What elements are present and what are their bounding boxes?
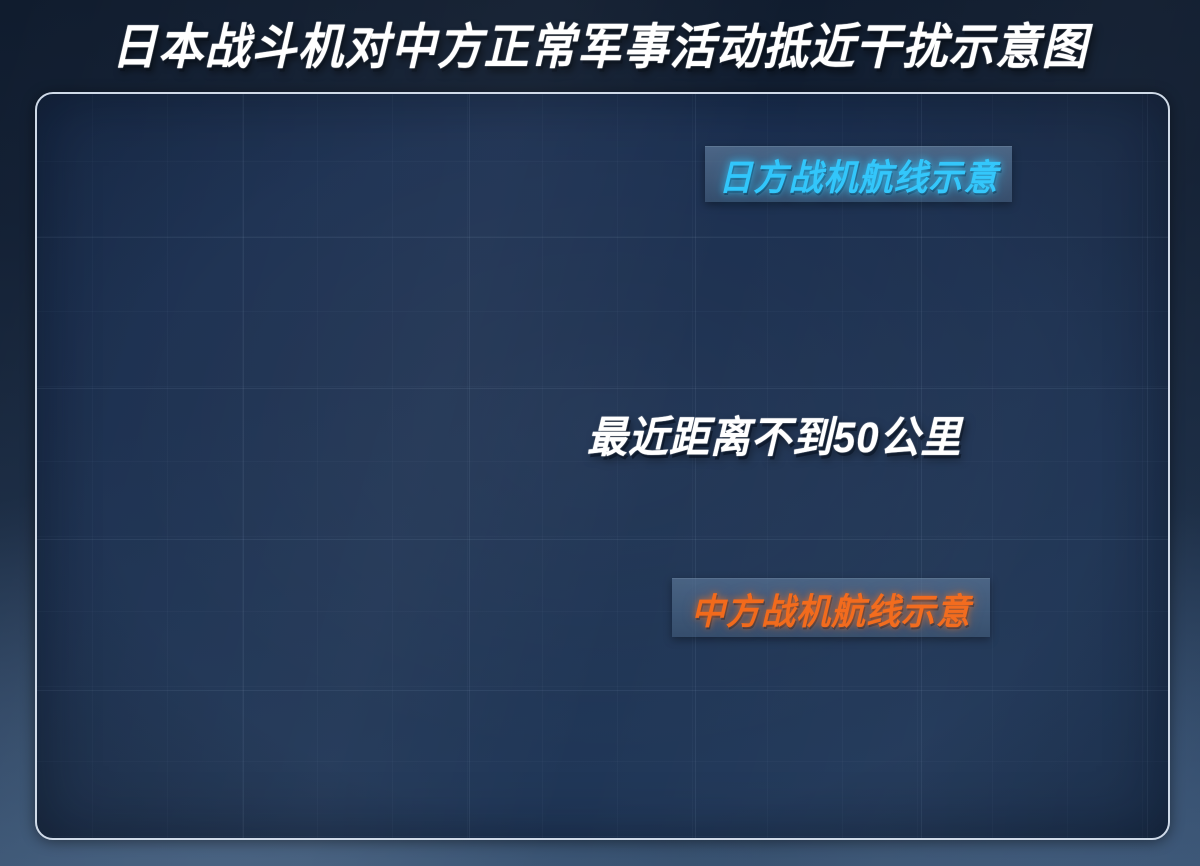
legend-chip-china[interactable]: 中方战机航线示意 xyxy=(672,578,990,637)
legend-label-china: 中方战机航线示意 xyxy=(691,582,971,634)
panel-vignette xyxy=(37,94,1168,838)
grid-major xyxy=(37,94,1168,838)
grid-minor xyxy=(37,94,1168,838)
legend-chip-japan[interactable]: 日方战机航线示意 xyxy=(705,146,1012,202)
legend-label-japan: 日方战机航线示意 xyxy=(719,149,999,201)
page-title: 日本战斗机对中方正常军事活动抵近干扰示意图 xyxy=(0,6,1200,78)
map-panel xyxy=(35,92,1170,840)
distance-annotation: 最近距离不到50公里 xyxy=(587,403,962,465)
page-title-text: 日本战斗机对中方正常军事活动抵近干扰示意图 xyxy=(112,7,1089,77)
infographic-stage: 日本战斗机对中方正常军事活动抵近干扰示意图 玉 渊 谭 天 xyxy=(0,0,1200,866)
